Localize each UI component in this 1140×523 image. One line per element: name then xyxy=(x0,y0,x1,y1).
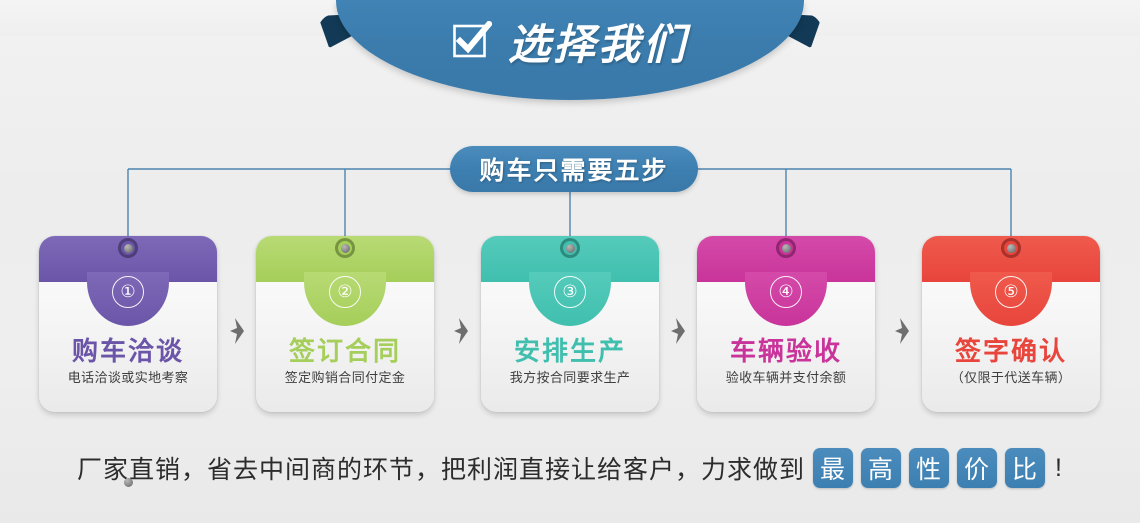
step-title-5: 签字确认 xyxy=(922,331,1100,368)
step-number-2: ② xyxy=(329,276,361,308)
step-title-1: 购车洽谈 xyxy=(39,331,217,368)
step-card-3[interactable]: ③ 安排生产 我方按合同要求生产 xyxy=(481,236,659,412)
step-title-3: 安排生产 xyxy=(481,331,659,368)
arrow-right-icon-2 xyxy=(452,316,470,346)
step-subtitle-1: 电话洽谈或实地考察 xyxy=(39,367,217,386)
step-title-4: 车辆验收 xyxy=(697,331,875,368)
footer: 厂家直销，省去中间商的环节，把利润直接让给客户，力求做到 最 高 性 价 比 ! xyxy=(0,438,1140,498)
step-number-3: ③ xyxy=(554,276,586,308)
steps-badge-label: 购车只需要五步 xyxy=(479,151,668,187)
header-banner: 选择我们 xyxy=(318,0,822,106)
footer-highlight-3: 性 xyxy=(909,448,949,488)
grommet-icon-card-4 xyxy=(776,238,796,258)
grommet-icon-1 xyxy=(118,472,138,492)
infographic-root: 选择我们 购车只需要五步 ① 购车洽谈 电话洽谈或实地考察 xyxy=(0,0,1140,523)
step-card-2[interactable]: ② 签订合同 签定购销合同付定金 xyxy=(256,236,434,412)
step-card-4[interactable]: ④ 车辆验收 验收车辆并支付余额 xyxy=(697,236,875,412)
step-number-1: ① xyxy=(112,276,144,308)
step-number-4: ④ xyxy=(770,276,802,308)
step-subtitle-5: （仅限于代送车辆） xyxy=(922,367,1100,386)
step-number-5: ⑤ xyxy=(995,276,1027,308)
arrow-right-icon-4 xyxy=(893,316,911,346)
steps-row: ① 购车洽谈 电话洽谈或实地考察 ② 签订合同 签定购销合同付定金 ③ 安排生产… xyxy=(0,236,1140,416)
footer-text: 厂家直销，省去中间商的环节，把利润直接让给客户，力求做到 xyxy=(77,450,805,486)
step-title-2: 签订合同 xyxy=(256,331,434,368)
footer-highlight-5: 比 xyxy=(1005,448,1045,488)
steps-badge: 购车只需要五步 xyxy=(450,146,698,192)
step-card-5[interactable]: ⑤ 签字确认 （仅限于代送车辆） xyxy=(922,236,1100,412)
footer-highlight-4: 价 xyxy=(957,448,997,488)
banner-title: 选择我们 xyxy=(508,11,688,72)
grommet-icon-card-1 xyxy=(118,238,138,258)
checkbox-checked-icon xyxy=(452,21,492,61)
banner-body: 选择我们 xyxy=(336,0,804,100)
arrow-right-icon-3 xyxy=(669,316,687,346)
footer-exclamation: ! xyxy=(1055,454,1063,483)
step-card-1[interactable]: ① 购车洽谈 电话洽谈或实地考察 xyxy=(39,236,217,412)
step-subtitle-3: 我方按合同要求生产 xyxy=(481,367,659,386)
step-subtitle-2: 签定购销合同付定金 xyxy=(256,367,434,386)
step-subtitle-4: 验收车辆并支付余额 xyxy=(697,367,875,386)
grommet-icon-card-3 xyxy=(560,238,580,258)
footer-highlight-1: 最 xyxy=(813,448,853,488)
grommet-icon-card-5 xyxy=(1001,238,1021,258)
grommet-icon-card-2 xyxy=(335,238,355,258)
footer-highlight-2: 高 xyxy=(861,448,901,488)
footer-highlight-group: 最 高 性 价 比 xyxy=(813,448,1045,488)
arrow-right-icon-1 xyxy=(228,316,246,346)
